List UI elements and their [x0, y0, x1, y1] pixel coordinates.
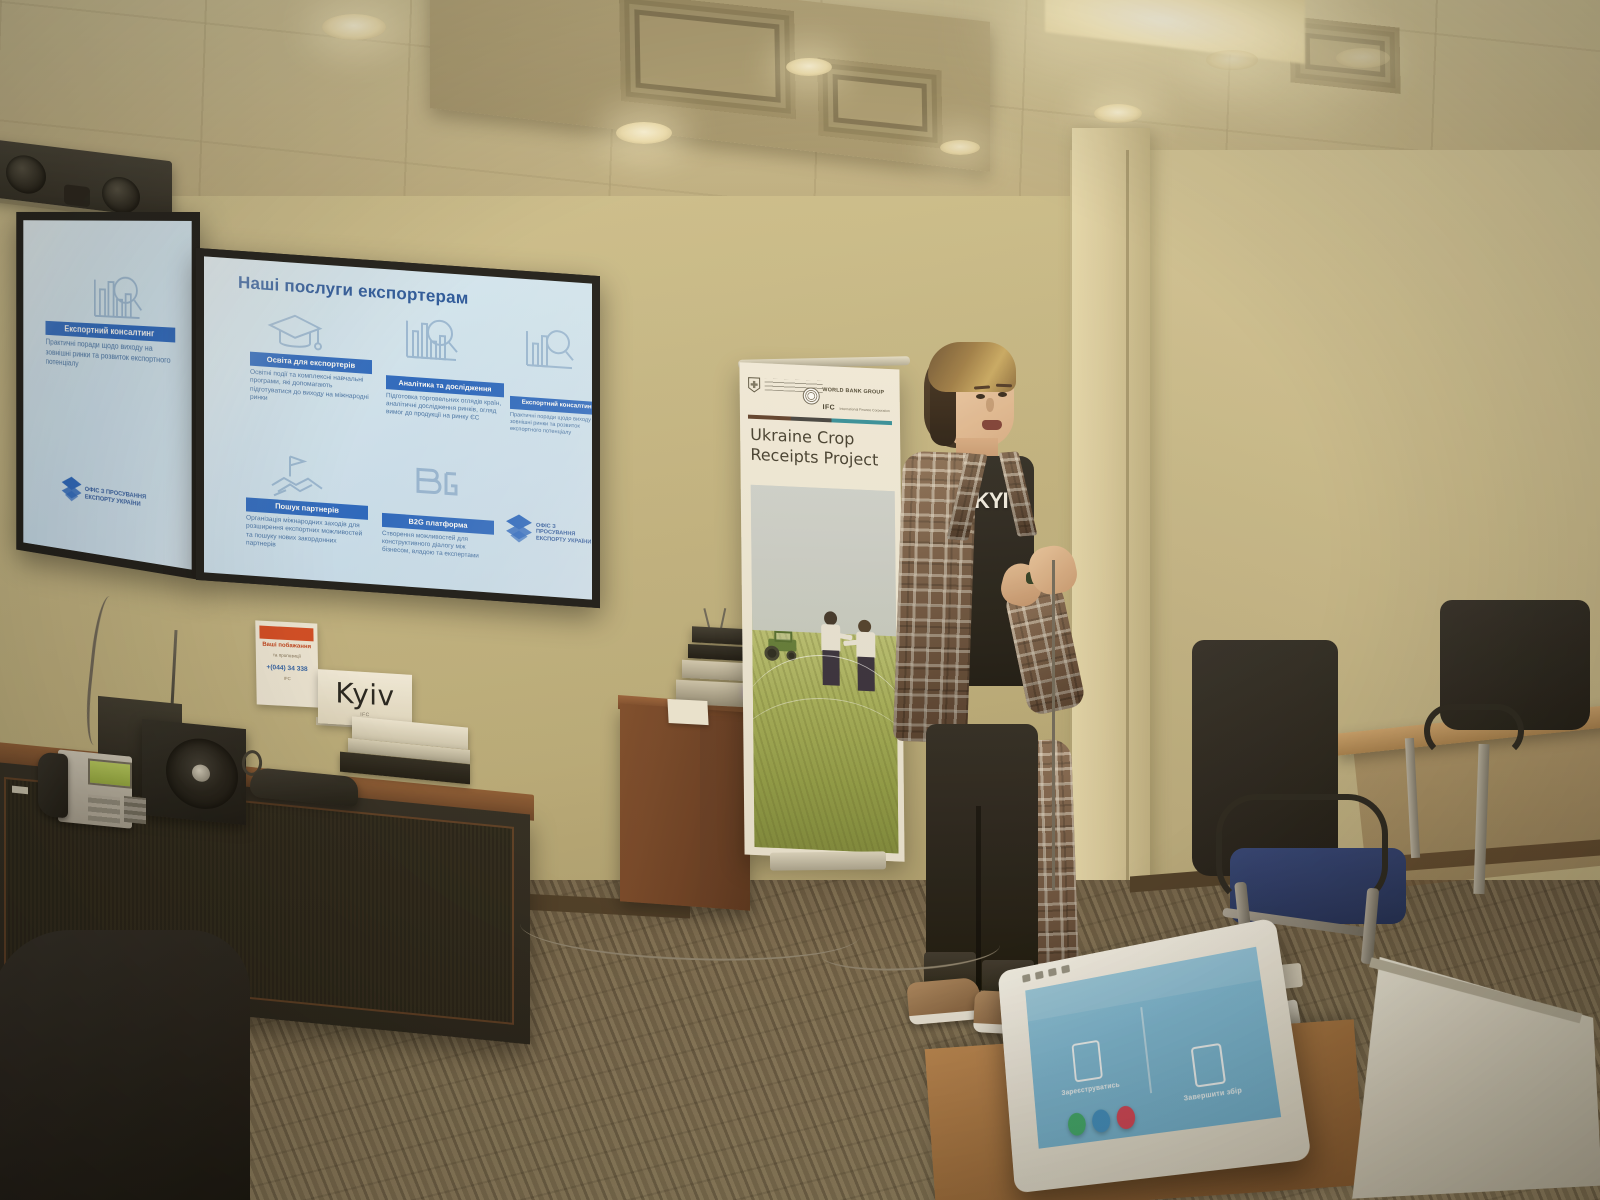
- banner-title-line-2: Receipts Project: [750, 444, 878, 469]
- tractor-wheel: [764, 645, 779, 661]
- swiss-confederation-logo-icon: [748, 377, 761, 394]
- slide-title: Наші послуги експортерам: [238, 273, 469, 309]
- card-body: Практичні поради щодо виходу на зовнішні…: [46, 335, 176, 376]
- card-body: Практичні поради щодо виходу на зовнішні…: [510, 408, 592, 439]
- tablet-device[interactable]: Зареєструватись Завершити збір: [998, 917, 1312, 1193]
- presenter-mouth: [982, 420, 1002, 430]
- poster-accent-band: [259, 626, 313, 642]
- banner-photo: [751, 485, 899, 854]
- battery-icon: [1035, 971, 1044, 980]
- rollup-banner: WORLD BANK GROUP IFC International Finan…: [739, 362, 904, 862]
- slide-card-consulting: Експортний консалтинг Практичні поради щ…: [510, 396, 592, 439]
- tablet-status-icons: [1022, 965, 1070, 983]
- display-left[interactable]: Експортний консалтинг Практичні поради щ…: [16, 212, 200, 580]
- name-card: [667, 699, 708, 725]
- export-promotion-office-logo: ОФІС З ПРОСУВАННЯ ЕКСПОРТУ УКРАЇНИ EXPOR…: [506, 514, 592, 553]
- cabinet-label: [12, 786, 28, 795]
- person-torso: [821, 624, 840, 652]
- slide-card-consulting: Експортний консалтинг Практичні поради щ…: [46, 321, 176, 376]
- handshake-flag-icon: [266, 449, 328, 505]
- phone-function-keys[interactable]: [124, 796, 146, 824]
- display-left-screen: Експортний консалтинг Практичні поради щ…: [23, 220, 191, 569]
- export-promotion-office-logo: ОФІС З ПРОСУВАННЯ ЕКСПОРТУ УКРАЇНИ EXPOR…: [62, 476, 146, 517]
- banner-title: Ukraine Crop Receipts Project: [750, 425, 892, 471]
- downlight-icon: [786, 58, 832, 76]
- presenter-eye: [998, 392, 1007, 397]
- subwoofer-speaker: [142, 719, 246, 825]
- wifi-icon: [1022, 974, 1031, 983]
- desk-sign-text: Kyiv: [335, 679, 394, 711]
- tile-label: Зареєструватись: [1061, 1082, 1120, 1098]
- poster-heading: Ваші побажання: [260, 642, 314, 652]
- status-dot-green[interactable]: [1067, 1111, 1087, 1136]
- office-chair-back[interactable]: [1420, 600, 1600, 800]
- poster-subheading: та пропозиції: [260, 651, 314, 659]
- graduation-cap-icon: [266, 307, 324, 357]
- presenter-nose: [986, 398, 994, 412]
- poster-footer: IFC: [260, 675, 314, 683]
- slide-card-b2g: B2G платформа Створення можливостей для …: [382, 513, 494, 562]
- downlight-icon: [1094, 104, 1142, 123]
- wbg-text-block: WORLD BANK GROUP IFC International Finan…: [822, 378, 890, 417]
- conference-room-photo: Експортний консалтинг Практичні поради щ…: [0, 0, 1600, 1200]
- logo-text: ОФІС З ПРОСУВАННЯ ЕКСПОРТУ УКРАЇНИ EXPOR…: [536, 523, 592, 546]
- banner-partner-logos: WORLD BANK GROUP IFC International Finan…: [748, 375, 892, 416]
- downlight-icon: [322, 14, 386, 40]
- hvac-vent-icon: [619, 0, 796, 119]
- display-right[interactable]: Наші послуги експортерам: [196, 248, 600, 608]
- office-chair-front[interactable]: [1180, 636, 1420, 966]
- side-cabinet-side: [700, 715, 740, 907]
- slide-card-partner-search: Пошук партнерів Організація міжнародних …: [246, 497, 368, 556]
- phone-keypad[interactable]: [88, 794, 120, 823]
- clock-icon: [1061, 965, 1070, 974]
- world-bank-group-logo: WORLD BANK GROUP IFC International Finan…: [802, 377, 890, 417]
- person-torso: [856, 632, 875, 659]
- wbg-top-text: WORLD BANK GROUP: [822, 387, 884, 396]
- tablet-kiosk[interactable]: Зареєструватись Завершити збір: [966, 912, 1324, 1200]
- chair-backrest: [0, 930, 250, 1200]
- banner-base-foot: [770, 851, 886, 870]
- tablet-app-topbar: [1025, 947, 1261, 1021]
- tablet-tile-finish[interactable]: Завершити збір: [1148, 1014, 1275, 1130]
- chevron-diamond-logo-icon: [506, 514, 532, 549]
- downlight-icon: [616, 122, 672, 144]
- logo-text: ОФІС З ПРОСУВАННЯ ЕКСПОРТУ УКРАЇНИ EXPOR…: [85, 486, 146, 508]
- world-bank-globe-icon: [802, 387, 819, 405]
- wall-corner-edge: [1126, 150, 1129, 940]
- downlight-icon: [1336, 48, 1390, 68]
- speaker-driver-icon: [102, 175, 140, 216]
- presenter-eyebrow: [996, 384, 1012, 388]
- signal-icon: [1048, 968, 1057, 977]
- chevron-diamond-logo-icon: [62, 476, 82, 508]
- hvac-vent-icon: [817, 57, 942, 148]
- wall-poster: Ваші побажання та пропозиції +(044) 34 3…: [255, 620, 318, 707]
- status-dot-blue[interactable]: [1091, 1108, 1111, 1133]
- chart-magnifier-icon: [402, 312, 458, 364]
- tablet-device-icon: [1191, 1043, 1227, 1088]
- speaker-driver-icon: [6, 153, 46, 196]
- tablet-device-icon: [1072, 1040, 1103, 1083]
- display-right-screen: Наші послуги експортерам: [204, 256, 592, 599]
- shoe-sole: [909, 1010, 982, 1025]
- logo-line-2: ЕКСПОРТУ УКРАЇНИ: [536, 535, 591, 545]
- banner-swoosh-line: [751, 694, 899, 854]
- card-body: Організація міжнародних заходів для розш…: [246, 511, 368, 556]
- downlight-icon: [1206, 50, 1258, 70]
- status-dot-red[interactable]: [1116, 1104, 1137, 1129]
- slide-card-education: Освіта для експортерів Освітні події та …: [250, 352, 372, 411]
- phone-body: [58, 749, 132, 828]
- phone-handset[interactable]: [38, 751, 68, 818]
- b2g-icon: [412, 463, 458, 512]
- downlight-icon: [940, 140, 980, 155]
- wall-cable: [1052, 560, 1082, 890]
- office-chair-foreground[interactable]: [0, 920, 290, 1200]
- chart-person-icon: [522, 323, 574, 373]
- tablet-screen[interactable]: Зареєструватись Завершити збір: [1025, 947, 1281, 1149]
- laptop[interactable]: [1340, 945, 1600, 1200]
- ifc-brand-text: IFC: [823, 404, 836, 412]
- card-body: Освітні події та комплексні навчальні пр…: [250, 366, 372, 411]
- desk-phone[interactable]: [36, 747, 132, 828]
- chart-magnifier-icon: [90, 270, 143, 322]
- poster-phone: +(044) 34 338: [260, 664, 314, 674]
- camera-lens-icon: [64, 184, 90, 207]
- slide-card-analytics: Аналітика та дослідження Підготовка торг…: [386, 375, 504, 424]
- tile-label: Завершити збір: [1183, 1088, 1242, 1103]
- presenter-eye: [976, 394, 985, 399]
- chair-armrest: [1424, 704, 1524, 758]
- phone-lcd-screen: [88, 758, 132, 788]
- tractor-cab: [774, 631, 792, 643]
- ifc-sub-text: International Finance Corporation: [840, 407, 890, 413]
